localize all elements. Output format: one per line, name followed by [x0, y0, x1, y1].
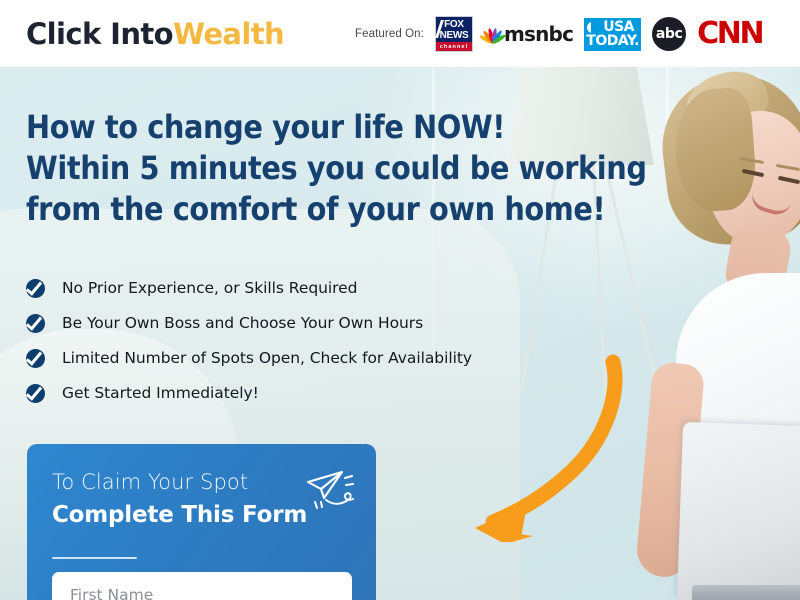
check-circle-icon [26, 277, 47, 298]
site-logo[interactable]: Click IntoWealth [26, 17, 284, 51]
hero-headline: How to change your life NOW! Within 5 mi… [26, 107, 716, 230]
benefit-text: Be Your Own Boss and Choose Your Own Hou… [62, 314, 423, 332]
benefit-text: Limited Number of Spots Open, Check for … [62, 349, 472, 367]
form-title: Complete This Form [52, 502, 307, 528]
msnbc-wordmark: msnbc [504, 22, 573, 46]
paper-plane-icon [304, 466, 358, 518]
form-divider [52, 557, 137, 559]
check-circle-icon [26, 312, 47, 333]
headline-line-2: Within 5 minutes you could be working [26, 148, 716, 189]
usa-today-logo: USA TODAY. [584, 18, 641, 51]
usa-today-globe-icon [587, 22, 598, 33]
logo-text-primary: Click Into [26, 17, 173, 51]
peacock-icon [484, 25, 501, 44]
headline-line-1: How to change your life NOW! [26, 107, 716, 148]
benefits-list: No Prior Experience, or Skills Required … [26, 270, 472, 410]
featured-on-label: Featured On: [355, 28, 424, 40]
featured-on-strip: Featured On: FOX NEWS channel [355, 16, 762, 52]
benefit-text: No Prior Experience, or Skills Required [62, 279, 357, 297]
laptop-base [692, 585, 800, 600]
form-kicker-text: To Claim Your Spot [52, 470, 248, 494]
fox-line1: FOX [444, 19, 464, 30]
list-item: Get Started Immediately! [26, 375, 472, 410]
abc-wordmark: abc [652, 17, 686, 51]
headline-line-3: from the comfort of your own home! [26, 189, 716, 230]
list-item: No Prior Experience, or Skills Required [26, 270, 472, 305]
benefit-text: Get Started Immediately! [62, 384, 259, 402]
cnn-wordmark: CNN [697, 19, 762, 49]
landing-page: Click IntoWealth Featured On: FOX NEWS c… [0, 0, 800, 600]
fox-line3: channel [436, 42, 472, 51]
cnn-logo: CNN [697, 19, 762, 49]
list-item: Be Your Own Boss and Choose Your Own Hou… [26, 305, 472, 340]
fox-line2: NEWS [440, 30, 469, 41]
list-item: Limited Number of Spots Open, Check for … [26, 340, 472, 375]
usa-today-line2: TODAY. [586, 34, 639, 48]
msnbc-logo: msnbc [484, 22, 573, 46]
logo-text-accent: Wealth [173, 17, 284, 51]
site-header: Click IntoWealth Featured On: FOX NEWS c… [0, 0, 800, 67]
check-circle-icon [26, 382, 47, 403]
fox-news-logo: FOX NEWS channel [435, 16, 473, 52]
check-circle-icon [26, 347, 47, 368]
abc-logo: abc [652, 17, 686, 51]
laptop [677, 422, 800, 600]
first-name-input[interactable] [52, 572, 352, 600]
signup-form-card: To Claim Your Spot Complete This Form [27, 444, 376, 600]
